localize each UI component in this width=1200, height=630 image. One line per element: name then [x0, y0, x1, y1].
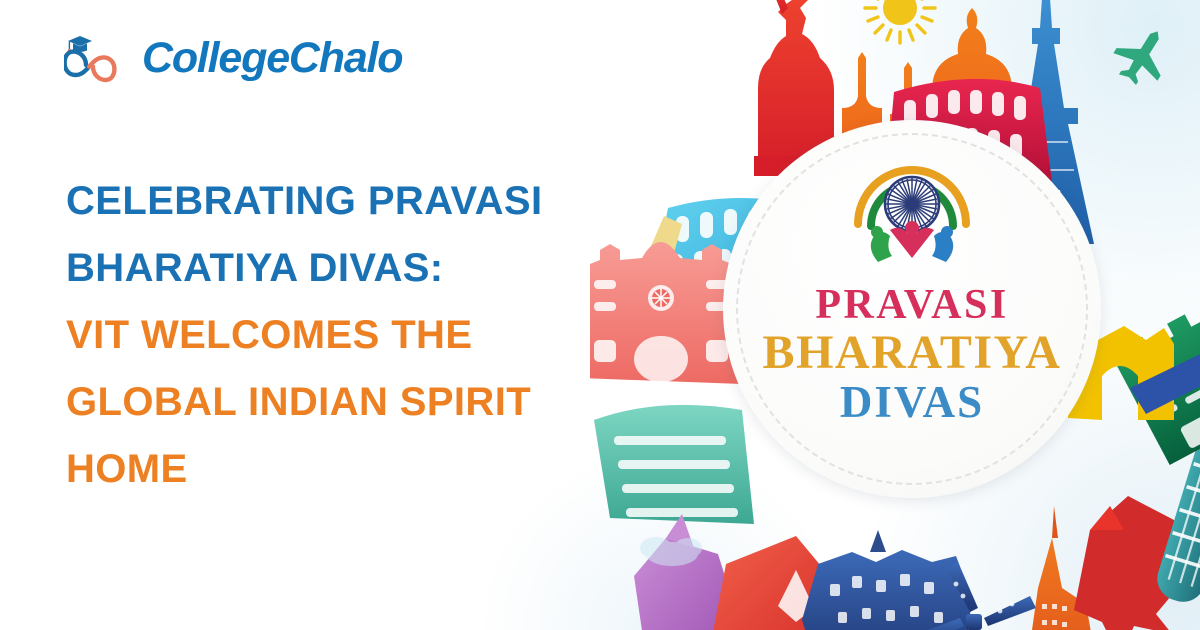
- brand-name: CollegeChalo: [142, 37, 402, 80]
- headline-line-2: BHARATIYA DIVAS:: [66, 235, 666, 302]
- headline: CELEBRATING PRAVASI BHARATIYA DIVAS: VIT…: [66, 168, 666, 503]
- kremlin-navy-icon: [802, 530, 972, 630]
- pravasi-bharatiya-divas-emblem-icon: [846, 152, 978, 278]
- pravasi-bharatiya-divas-emblem: PRAVASI BHARATIYA DIVAS: [723, 120, 1101, 498]
- emblem-line-pravasi: PRAVASI: [763, 284, 1062, 326]
- headline-line-1: CELEBRATING PRAVASI: [66, 168, 666, 235]
- headline-line-5: HOME: [66, 436, 666, 503]
- emblem-line-divas: DIVAS: [763, 380, 1062, 425]
- emblem-line-bharatiya: BHARATIYA: [763, 329, 1062, 377]
- emblem-wordmark: PRAVASI BHARATIYA DIVAS: [763, 284, 1062, 425]
- sun-icon: [865, 0, 935, 43]
- headline-line-4: GLOBAL INDIAN SPIRIT: [66, 369, 666, 436]
- brand-logo[interactable]: CollegeChalo: [64, 32, 402, 84]
- airplane-green-icon: [1105, 18, 1179, 94]
- notre-dame-pink-icon: [590, 242, 742, 384]
- poster-canvas: CollegeChalo CELEBRATING PRAVASI BHARATI…: [0, 0, 1200, 630]
- headline-line-3: VIT WELCOMES THE: [66, 302, 666, 369]
- infinity-graduation-cap-icon: [64, 32, 132, 84]
